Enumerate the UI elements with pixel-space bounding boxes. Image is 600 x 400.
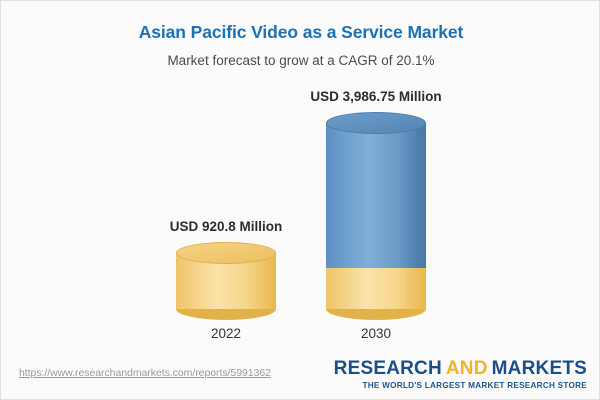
value-label-2030: USD 3,986.75 Million <box>246 89 506 104</box>
cylinder-body <box>326 123 426 268</box>
logo-word-markets: MARKETS <box>492 358 587 379</box>
infographic-card: Asian Pacific Video as a Service Market … <box>0 0 600 400</box>
logo-word-and: AND <box>442 358 492 379</box>
logo-tagline: THE WORLD'S LARGEST MARKET RESEARCH STOR… <box>334 380 587 391</box>
logo-word-research: RESEARCH <box>334 358 442 379</box>
bar-segment-growth-2030 <box>326 123 426 268</box>
category-label-2030: 2030 <box>306 326 446 341</box>
logo-wordmark: RESEARCHANDMARKETS <box>334 358 587 380</box>
cylinder-top-ellipse <box>326 112 426 134</box>
value-label-2022: USD 920.8 Million <box>96 219 356 234</box>
bar-segment-base-2030 <box>326 268 426 309</box>
cylinder-top-ellipse <box>176 242 276 264</box>
cylinder-body <box>326 268 426 309</box>
chart-plot-area: USD 920.8 Million 2022 USD 3,986.75 Mill… <box>1 1 600 349</box>
bar-2030[interactable] <box>326 123 426 309</box>
bar-2022[interactable] <box>176 253 276 309</box>
bar-segment-base-2022 <box>176 253 276 309</box>
footer: https://www.researchandmarkets.com/repor… <box>1 353 600 399</box>
category-label-2022: 2022 <box>156 326 296 341</box>
report-url-link[interactable]: https://www.researchandmarkets.com/repor… <box>19 367 271 379</box>
research-and-markets-logo[interactable]: RESEARCHANDMARKETS THE WORLD'S LARGEST M… <box>334 358 587 391</box>
